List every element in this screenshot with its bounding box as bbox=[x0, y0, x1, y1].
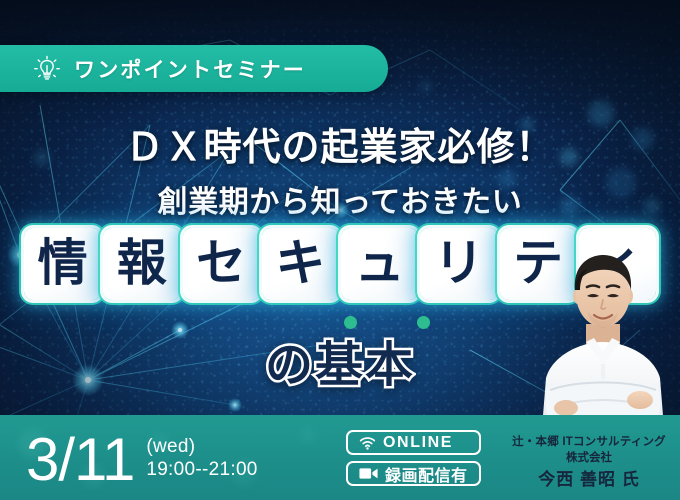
event-date-block: 3/11 (wed) 19:00--21:00 bbox=[26, 431, 258, 488]
footer-bar: 3/11 (wed) 19:00--21:00 ONLINE bbox=[0, 415, 680, 500]
speaker-name: 今西 善昭 氏 bbox=[506, 469, 672, 492]
format-badges: ONLINE 録画配信有 bbox=[346, 430, 481, 486]
headline-char-box: キ bbox=[262, 228, 339, 300]
event-date: 3/11 bbox=[26, 431, 134, 488]
speaker-info: 辻・本郷 ITコンサルティング 株式会社 今西 善昭 氏 bbox=[506, 435, 672, 492]
event-date-details: (wed) 19:00--21:00 bbox=[146, 436, 257, 488]
banner-label: ワンポイントセミナー bbox=[74, 54, 306, 84]
lightbulb-icon bbox=[32, 53, 62, 84]
headline-char: 情 bbox=[38, 238, 88, 288]
speaker-portrait bbox=[528, 238, 678, 428]
badge-recording-label: 録画配信有 bbox=[385, 462, 468, 486]
badge-online: ONLINE bbox=[346, 430, 481, 455]
headline-char: セ bbox=[196, 238, 246, 288]
headline-char: リ bbox=[434, 238, 484, 288]
headline-char: 報 bbox=[117, 238, 167, 288]
headline-char: キ bbox=[275, 238, 325, 288]
headline-char-box: リ bbox=[420, 228, 497, 300]
headline-char-box: 情 bbox=[24, 228, 101, 300]
title-sub: 創業期から知っておきたい bbox=[0, 177, 680, 221]
event-time: 19:00--21:00 bbox=[146, 459, 257, 481]
seminar-type-banner: ワンポイントセミナー bbox=[0, 45, 388, 92]
event-weekday: (wed) bbox=[146, 436, 257, 458]
speaker-company-line2: 株式会社 bbox=[506, 451, 672, 467]
title-main: ＤＸ時代の起業家必修！ bbox=[0, 116, 680, 171]
badge-recording: 録画配信有 bbox=[346, 461, 481, 486]
seminar-flyer: ワンポイントセミナー ＤＸ時代の起業家必修！ 創業期から知っておきたい 情 報 … bbox=[0, 0, 680, 500]
wifi-icon bbox=[359, 436, 376, 450]
headline-char: ュ bbox=[355, 238, 405, 288]
speaker-company-line1: 辻・本郷 ITコンサルティング bbox=[506, 435, 672, 451]
headline-char-box: 報 bbox=[103, 228, 180, 300]
video-camera-icon bbox=[359, 467, 378, 480]
headline-char-box: ュ bbox=[341, 228, 418, 300]
headline-char-box: セ bbox=[183, 228, 260, 300]
badge-online-label: ONLINE bbox=[383, 434, 453, 452]
